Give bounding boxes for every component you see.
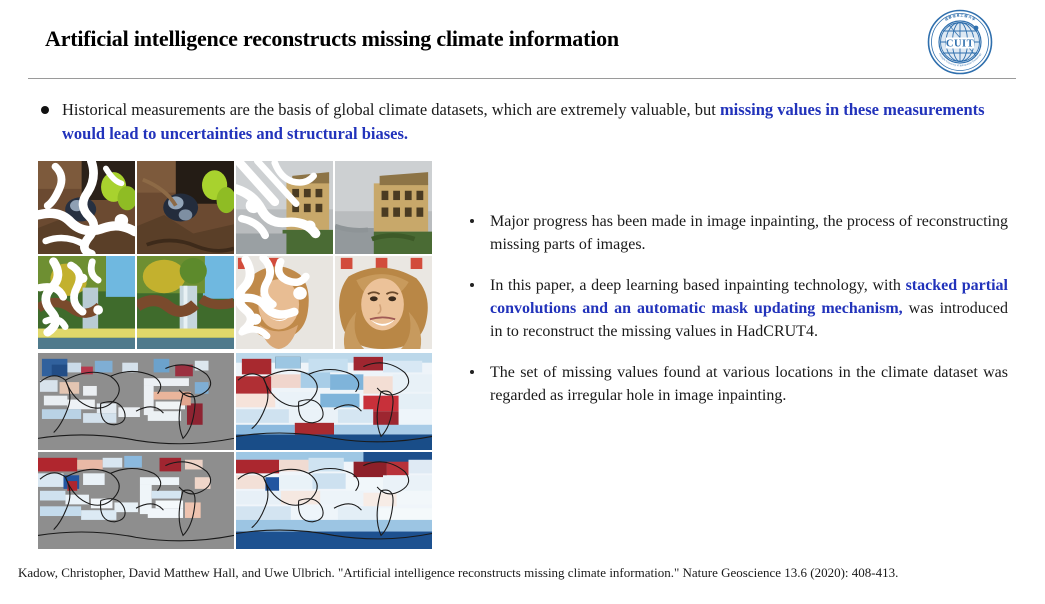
- rb2-seg0: In this paper, a deep learning based inp…: [490, 277, 906, 294]
- cuit-university-seal-logo: CUIT 成 都 信 息 工 程 大 学 Chengdu University …: [919, 8, 1001, 76]
- rb3-seg0: The set of missing values found at vario…: [490, 364, 1008, 404]
- face-reconstructed: [335, 256, 432, 349]
- right-bullet-1-text: Major progress has been made in image in…: [490, 210, 1008, 256]
- svg-text:成 都 信 息 工 程 大 学: 成 都 信 息 工 程 大 学: [944, 12, 977, 21]
- right-bullet-list: Major progress has been made in image in…: [468, 210, 1008, 425]
- hadcrut4-missing-map-1: [38, 353, 234, 450]
- climate-map-row-2: [38, 452, 432, 549]
- hadcrut4-reconstructed-map-2: [236, 452, 432, 549]
- slide-canvas: Artificial intelligence reconstructs mis…: [0, 0, 1045, 604]
- waterfall-reconstructed: [137, 256, 234, 349]
- top-bullet-plain: Historical measurements are the basis of…: [62, 100, 720, 119]
- small-round-bullet-icon: [470, 283, 474, 287]
- right-bullet-3: The set of missing values found at vario…: [468, 361, 1008, 407]
- figure-image-grid: [38, 161, 432, 554]
- cliff-houses-reconstructed: [335, 161, 432, 254]
- spider-masked: [38, 161, 135, 254]
- svg-text:CUIT: CUIT: [946, 39, 974, 50]
- photo-inpainting-row-2: [38, 256, 432, 349]
- face-masked: [236, 256, 333, 349]
- small-round-bullet-icon: [470, 370, 474, 374]
- filled-round-bullet-icon: [41, 106, 49, 114]
- right-bullet-2: In this paper, a deep learning based inp…: [468, 274, 1008, 343]
- right-bullet-3-text: The set of missing values found at vario…: [490, 361, 1008, 407]
- cliff-houses-masked: [236, 161, 333, 254]
- photo-inpainting-row-1: [38, 161, 432, 254]
- right-bullet-1: Major progress has been made in image in…: [468, 210, 1008, 256]
- title-divider: [28, 78, 1016, 79]
- small-round-bullet-icon: [470, 219, 474, 223]
- top-bullet-text: Historical measurements are the basis of…: [62, 98, 998, 146]
- hadcrut4-missing-map-2: [38, 452, 234, 549]
- page-title: Artificial intelligence reconstructs mis…: [45, 26, 885, 52]
- top-bullet-item: Historical measurements are the basis of…: [38, 98, 998, 146]
- footer-citation: Kadow, Christopher, David Matthew Hall, …: [18, 563, 1018, 582]
- right-bullet-2-text: In this paper, a deep learning based inp…: [490, 274, 1008, 343]
- waterfall-masked: [38, 256, 135, 349]
- rb1-seg0: Major progress has been made in image in…: [490, 213, 1008, 253]
- spider-reconstructed: [137, 161, 234, 254]
- climate-map-row-1: [38, 353, 432, 450]
- hadcrut4-reconstructed-map-1: [236, 353, 432, 450]
